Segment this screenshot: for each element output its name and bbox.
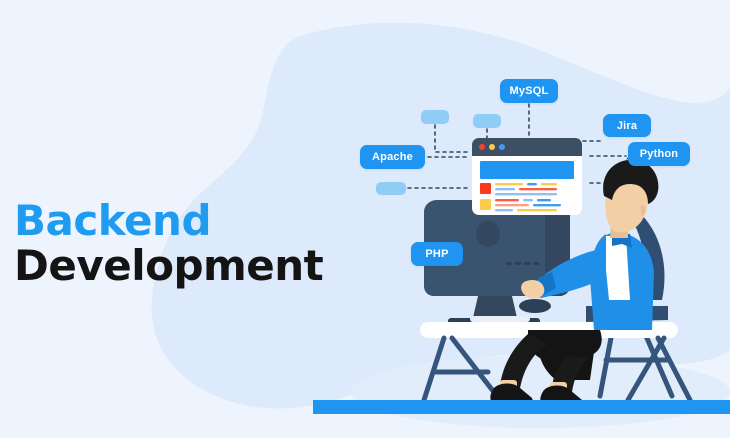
illustration-canvas: Backend Development MySQLJiraApachePytho… bbox=[0, 0, 730, 438]
bottom-bar-layer bbox=[0, 0, 730, 438]
bottom-accent-bar bbox=[313, 400, 730, 414]
